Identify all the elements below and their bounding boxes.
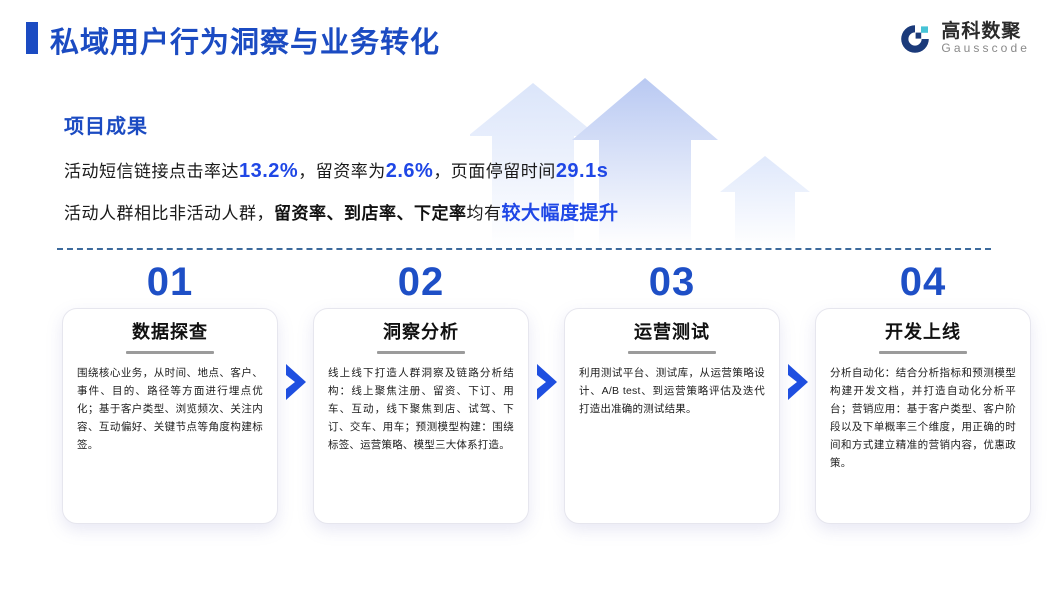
- step-title-1: 数据探查: [77, 321, 263, 344]
- step-card-body-4[interactable]: 开发上线 分析自动化：结合分析指标和预测模型构建开发文档，并打造自动化分析平台；…: [815, 308, 1031, 524]
- step-card-body-2[interactable]: 洞察分析 线上线下打造人群洞察及链路分析结构：线上聚焦注册、留资、下订、用车、互…: [313, 308, 529, 524]
- step-title-rule-3: [628, 351, 716, 354]
- step-title-2: 洞察分析: [328, 321, 514, 344]
- company-logo: 高科数聚 Gausscode: [898, 17, 1030, 61]
- step-card-body-1[interactable]: 数据探查 围绕核心业务，从时间、地点、客户、事件、目的、路径等方面进行埋点优化；…: [62, 308, 278, 524]
- results-heading: 项目成果: [64, 110, 148, 139]
- step-number-4: 04: [815, 262, 1031, 302]
- step-description-1: 围绕核心业务，从时间、地点、客户、事件、目的、路径等方面进行埋点优化；基于客户类…: [77, 364, 263, 454]
- results-line2-seg1: 活动人群相比非活动人群，: [64, 204, 274, 223]
- logo-name-cn: 高科数聚: [941, 22, 1030, 42]
- results-line-2: 活动人群相比非活动人群，留资率、到店率、下定率均有较大幅度提升: [64, 198, 619, 225]
- stat-click-rate: 13.2%: [239, 160, 298, 182]
- results-line-1: 活动短信链接点击率达13.2%，留资率为2.6%，页面停留时间29.1s: [64, 157, 608, 183]
- results-line1-seg3: ，页面停留时间: [433, 162, 556, 181]
- step-description-2: 线上线下打造人群洞察及链路分析结构：线上聚焦注册、留资、下订、用车、互动，线下聚…: [328, 364, 514, 454]
- step-title-rule-4: [879, 351, 967, 354]
- results-line1-seg2: ，留资率为: [298, 162, 386, 181]
- step-connector-chevron-2: [534, 362, 560, 402]
- step-card-3[interactable]: 03 运营测试 利用测试平台、测试库，从运营策略设计、A/B test、到运营策…: [564, 262, 780, 524]
- project-results-section: 项目成果 活动短信链接点击率达13.2%，留资率为2.6%，页面停留时间29.1…: [0, 78, 1048, 248]
- step-title-rule-2: [377, 351, 465, 354]
- title-accent-bar: [26, 22, 38, 54]
- results-line2-bold: 留资率、到店率、下定率: [274, 204, 467, 223]
- logo-name-en: Gausscode: [941, 41, 1030, 56]
- step-title-3: 运营测试: [579, 321, 765, 344]
- process-steps: 01 数据探查 围绕核心业务，从时间、地点、客户、事件、目的、路径等方面进行埋点…: [0, 262, 1048, 532]
- results-line1-seg1: 活动短信链接点击率达: [64, 162, 239, 181]
- section-divider: [57, 248, 991, 250]
- step-title-4: 开发上线: [830, 321, 1016, 344]
- results-line2-seg2: 均有: [467, 204, 502, 223]
- page-title: 私域用户行为洞察与业务转化: [50, 19, 440, 61]
- step-connector-chevron-1: [283, 362, 309, 402]
- step-title-rule-1: [126, 351, 214, 354]
- slide-header: 私域用户行为洞察与业务转化 高科数聚 Gausscode: [0, 0, 1048, 78]
- step-connector-chevron-3: [785, 362, 811, 402]
- stat-dwell-time: 29.1s: [556, 160, 609, 182]
- gausscode-logo-icon: [898, 22, 932, 56]
- step-number-2: 02: [313, 262, 529, 302]
- step-number-3: 03: [564, 262, 780, 302]
- step-description-3: 利用测试平台、测试库，从运营策略设计、A/B test、到运营策略评估及迭代打造…: [579, 364, 765, 418]
- step-number-1: 01: [62, 262, 278, 302]
- results-line2-highlight: 较大幅度提升: [502, 203, 619, 224]
- step-card-1[interactable]: 01 数据探查 围绕核心业务，从时间、地点、客户、事件、目的、路径等方面进行埋点…: [62, 262, 278, 524]
- step-card-2[interactable]: 02 洞察分析 线上线下打造人群洞察及链路分析结构：线上聚焦注册、留资、下订、用…: [313, 262, 529, 524]
- step-card-body-3[interactable]: 运营测试 利用测试平台、测试库，从运营策略设计、A/B test、到运营策略评估…: [564, 308, 780, 524]
- stat-lead-rate: 2.6%: [386, 160, 434, 182]
- slide: 私域用户行为洞察与业务转化 高科数聚 Gausscode: [0, 0, 1048, 591]
- step-card-4[interactable]: 04 开发上线 分析自动化：结合分析指标和预测模型构建开发文档，并打造自动化分析…: [815, 262, 1031, 524]
- step-description-4: 分析自动化：结合分析指标和预测模型构建开发文档，并打造自动化分析平台；营销应用：…: [830, 364, 1016, 472]
- logo-wordmark: 高科数聚 Gausscode: [941, 22, 1030, 57]
